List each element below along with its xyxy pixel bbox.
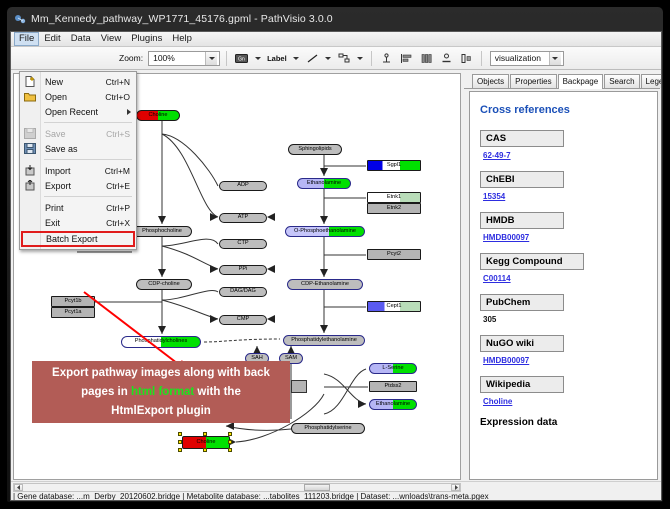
- status-text: | Gene database: ...m_Derby_20120602.bri…: [13, 492, 489, 501]
- node-ptdss2[interactable]: Ptdss2: [369, 381, 417, 392]
- banner-line2b: with the: [194, 386, 241, 398]
- tab-search[interactable]: Search: [604, 74, 639, 88]
- node-choline-label: Choline: [136, 110, 180, 121]
- toolbar-separator-2: [371, 51, 372, 66]
- menu-data[interactable]: Data: [66, 32, 96, 46]
- anchor-icon[interactable]: [378, 50, 395, 67]
- menu-plugins[interactable]: Plugins: [126, 32, 167, 46]
- side-panel-tabs: Objects Properties Backpage Search Legen…: [464, 73, 660, 89]
- save-as-disk-icon: [24, 143, 36, 154]
- interaction-dropdown[interactable]: [356, 50, 365, 67]
- title-bar: Mm_Kennedy_pathway_WP1771_45176.gpml - P…: [7, 7, 663, 31]
- label-dropdown[interactable]: [292, 50, 301, 67]
- zoom-label: Zoom:: [119, 53, 143, 63]
- menu-item-batch-export-label: Batch Export: [46, 234, 133, 244]
- node-pcyt1b[interactable]: Pcyt1b: [51, 296, 95, 307]
- menu-item-exit-label: Exit: [45, 218, 106, 228]
- menu-item-batch-export[interactable]: Batch Export: [21, 231, 135, 247]
- menu-item-open-recent-label: Open Recent: [45, 107, 127, 117]
- node-etnk1[interactable]: Etnk1: [367, 192, 421, 203]
- backpage-db-wikipedia: Wikipedia: [480, 376, 564, 393]
- node-phosphatidylcholines-label: Phosphatidylcholines: [121, 336, 201, 348]
- selection-handle-ne[interactable]: [228, 432, 232, 436]
- group-block[interactable]: [291, 380, 307, 393]
- selection-handle-n[interactable]: [203, 432, 207, 436]
- node-cept1-label: Cept1: [367, 301, 421, 312]
- svg-text:Gn: Gn: [238, 56, 245, 62]
- menu-item-print-label: Print: [45, 203, 106, 213]
- node-phosphocholine[interactable]: Phosphocholine: [132, 226, 192, 237]
- zoom-combo[interactable]: 100%: [148, 51, 220, 66]
- tab-properties[interactable]: Properties: [510, 74, 556, 88]
- banner-highlight: html format: [131, 386, 194, 398]
- node-cdp-ethanolamine[interactable]: CDP-Ethanolamine: [287, 279, 363, 290]
- tool-bar: Zoom: 100% Gn Label: [11, 47, 661, 70]
- line-dropdown[interactable]: [324, 50, 333, 67]
- line-icon[interactable]: [304, 50, 321, 67]
- backpage-db-kegg: Kegg Compound: [480, 253, 584, 270]
- node-pcyt2[interactable]: Pcyt2: [367, 249, 421, 260]
- backpage-val-hmdb[interactable]: HMDB00097: [483, 233, 647, 242]
- app-body: File Edit Data View Plugins Help Zoom: 1…: [10, 31, 662, 501]
- backpage-db-nugo: NuGO wiki: [480, 335, 564, 352]
- node-sphingolipids[interactable]: Sphingolipids: [288, 144, 342, 155]
- menu-item-export-accel: Ctrl+E: [106, 181, 136, 191]
- side-panel: Objects Properties Backpage Search Legen…: [464, 73, 660, 480]
- menu-item-save: Save Ctrl+S: [20, 126, 136, 141]
- interaction-icon[interactable]: [336, 50, 353, 67]
- chevron-down-icon-2[interactable]: [549, 52, 561, 65]
- node-ethanolamine-top-label: Ethanolamine: [297, 178, 351, 189]
- menu-help[interactable]: Help: [167, 32, 197, 46]
- node-phosphatidylethanolamine[interactable]: Phosphatidylethanolamine: [283, 335, 365, 346]
- group-icon[interactable]: [458, 50, 475, 67]
- status-bar: | Gene database: ...m_Derby_20120602.bri…: [11, 481, 662, 500]
- align-icon[interactable]: [398, 50, 415, 67]
- node-ctp[interactable]: CTP: [219, 239, 267, 249]
- toolbar-separator-3: [481, 51, 482, 66]
- scroll-thumb[interactable]: [304, 484, 330, 491]
- canvas-horizontal-scrollbar[interactable]: [13, 483, 461, 492]
- chevron-down-icon[interactable]: [205, 52, 217, 65]
- window-title: Mm_Kennedy_pathway_WP1771_45176.gpml - P…: [31, 13, 333, 25]
- tab-legend[interactable]: Legend: [641, 74, 662, 88]
- export-icon: [24, 180, 36, 191]
- node-ethanolamine-bottom-label: Ethanolamine: [369, 399, 417, 410]
- expression-data-heading: Expression data: [480, 417, 647, 428]
- banner-line3: HtmlExport plugin: [111, 405, 211, 417]
- menu-item-print[interactable]: Print Ctrl+P: [20, 200, 136, 215]
- menu-separator-2: [44, 159, 132, 160]
- tab-backpage[interactable]: Backpage: [558, 74, 604, 89]
- selection-handle-nw[interactable]: [178, 432, 182, 436]
- menu-item-import-accel: Ctrl+M: [105, 166, 136, 176]
- scroll-right-arrow[interactable]: [451, 484, 460, 491]
- node-atp[interactable]: ATP: [219, 213, 267, 223]
- backpage-db-pubchem: PubChem: [480, 294, 564, 311]
- banner-line2a: pages in: [81, 386, 131, 398]
- node-sgpl1-label: Sgpl1: [367, 160, 421, 171]
- node-adp[interactable]: ADP: [219, 181, 267, 191]
- backpage-val-chebi[interactable]: 15354: [483, 192, 647, 201]
- node-cmp[interactable]: CMP: [219, 315, 267, 325]
- zoom-value: 100%: [153, 53, 205, 63]
- node-phosphatidylserine[interactable]: Phosphatidylserine: [291, 423, 365, 434]
- menu-item-exit[interactable]: Exit Ctrl+X: [20, 215, 136, 230]
- backpage-val-cas[interactable]: 62-49-7: [483, 151, 647, 160]
- selection-handle-e[interactable]: [228, 440, 232, 444]
- annotation-banner: Export pathway images along with back pa…: [32, 361, 290, 423]
- menu-item-open-recent[interactable]: Open Recent: [20, 104, 136, 119]
- backpage-content: Cross references CAS 62-49-7 ChEBI 15354…: [469, 91, 658, 480]
- menu-item-export-label: Export: [45, 181, 106, 191]
- application-window: Mm_Kennedy_pathway_WP1771_45176.gpml - P…: [6, 6, 664, 503]
- menu-separator-3: [44, 196, 132, 197]
- menu-separator-1: [44, 122, 132, 123]
- selection-handle-sw[interactable]: [178, 448, 182, 452]
- menu-item-new-accel: Ctrl+N: [106, 77, 136, 87]
- node-l-serine-label: L-Serine: [369, 363, 417, 374]
- save-disk-icon: [24, 128, 36, 139]
- menu-item-exit-accel: Ctrl+X: [106, 218, 136, 228]
- menu-item-save-as-label: Save as: [45, 144, 130, 154]
- menu-edit[interactable]: Edit: [39, 32, 65, 46]
- banner-line1: Export pathway images along with back: [52, 367, 270, 379]
- menu-item-save-accel: Ctrl+S: [106, 129, 136, 139]
- backpage-val-kegg[interactable]: C00114: [483, 274, 647, 283]
- selection-handle-w[interactable]: [178, 440, 182, 444]
- label-button[interactable]: Label: [265, 51, 289, 66]
- menu-item-open-accel: Ctrl+O: [105, 92, 136, 102]
- cross-references-title: Cross references: [480, 104, 647, 116]
- selection-handle-s[interactable]: [203, 448, 207, 452]
- menu-item-save-as[interactable]: Save as: [20, 141, 136, 156]
- backpage-db-hmdb: HMDB: [480, 212, 564, 229]
- submenu-arrow-icon: [127, 109, 131, 115]
- datanode-dropdown[interactable]: [253, 50, 262, 67]
- datanode-icon[interactable]: Gn: [233, 50, 250, 67]
- file-menu-popup[interactable]: New Ctrl+N Open Ctrl+O Open Recent: [19, 71, 137, 250]
- scroll-left-arrow[interactable]: [14, 484, 23, 491]
- backpage-db-cas: CAS: [480, 130, 564, 147]
- backpage-val-nugo[interactable]: HMDB00097: [483, 356, 647, 365]
- menu-item-import-label: Import: [45, 166, 105, 176]
- menu-item-export[interactable]: Export Ctrl+E: [20, 178, 136, 193]
- order-icon[interactable]: [438, 50, 455, 67]
- menu-item-open[interactable]: Open Ctrl+O: [20, 89, 136, 104]
- pathvisio-icon: [14, 13, 26, 25]
- node-ppi[interactable]: PPi: [219, 265, 267, 275]
- import-icon: [24, 165, 36, 176]
- menu-item-save-label: Save: [45, 129, 106, 139]
- node-cdp-choline[interactable]: CDP-choline: [136, 279, 192, 290]
- menu-item-open-label: Open: [45, 92, 105, 102]
- stack-icon[interactable]: [418, 50, 435, 67]
- tab-objects[interactable]: Objects: [472, 74, 509, 88]
- backpage-val-wikipedia[interactable]: Choline: [483, 397, 647, 406]
- new-document-icon: [24, 76, 36, 87]
- node-pcyt1a[interactable]: Pcyt1a: [51, 307, 95, 318]
- menu-item-new-label: New: [45, 77, 106, 87]
- menu-item-import[interactable]: Import Ctrl+M: [20, 163, 136, 178]
- open-folder-icon: [24, 91, 36, 102]
- toolbar-separator: [226, 51, 227, 66]
- visualization-value: visualization: [495, 53, 549, 63]
- screenshot-root: Mm_Kennedy_pathway_WP1771_45176.gpml - P…: [0, 0, 670, 509]
- node-o-phosphoethanolamine-label: O-Phosphoethanolamine: [285, 226, 365, 237]
- node-etnk2[interactable]: Etnk2: [367, 203, 421, 214]
- backpage-db-chebi: ChEBI: [480, 171, 564, 188]
- menu-item-print-accel: Ctrl+P: [106, 203, 136, 213]
- menu-item-new[interactable]: New Ctrl+N: [20, 74, 136, 89]
- node-dag[interactable]: DAG/DAG: [219, 287, 267, 297]
- menu-bar: File Edit Data View Plugins Help: [11, 32, 661, 47]
- selection-handle-se[interactable]: [228, 448, 232, 452]
- visualization-combo[interactable]: visualization: [490, 51, 564, 66]
- menu-file[interactable]: File: [14, 32, 39, 46]
- menu-view[interactable]: View: [96, 32, 126, 46]
- backpage-val-pubchem: 305: [483, 315, 647, 324]
